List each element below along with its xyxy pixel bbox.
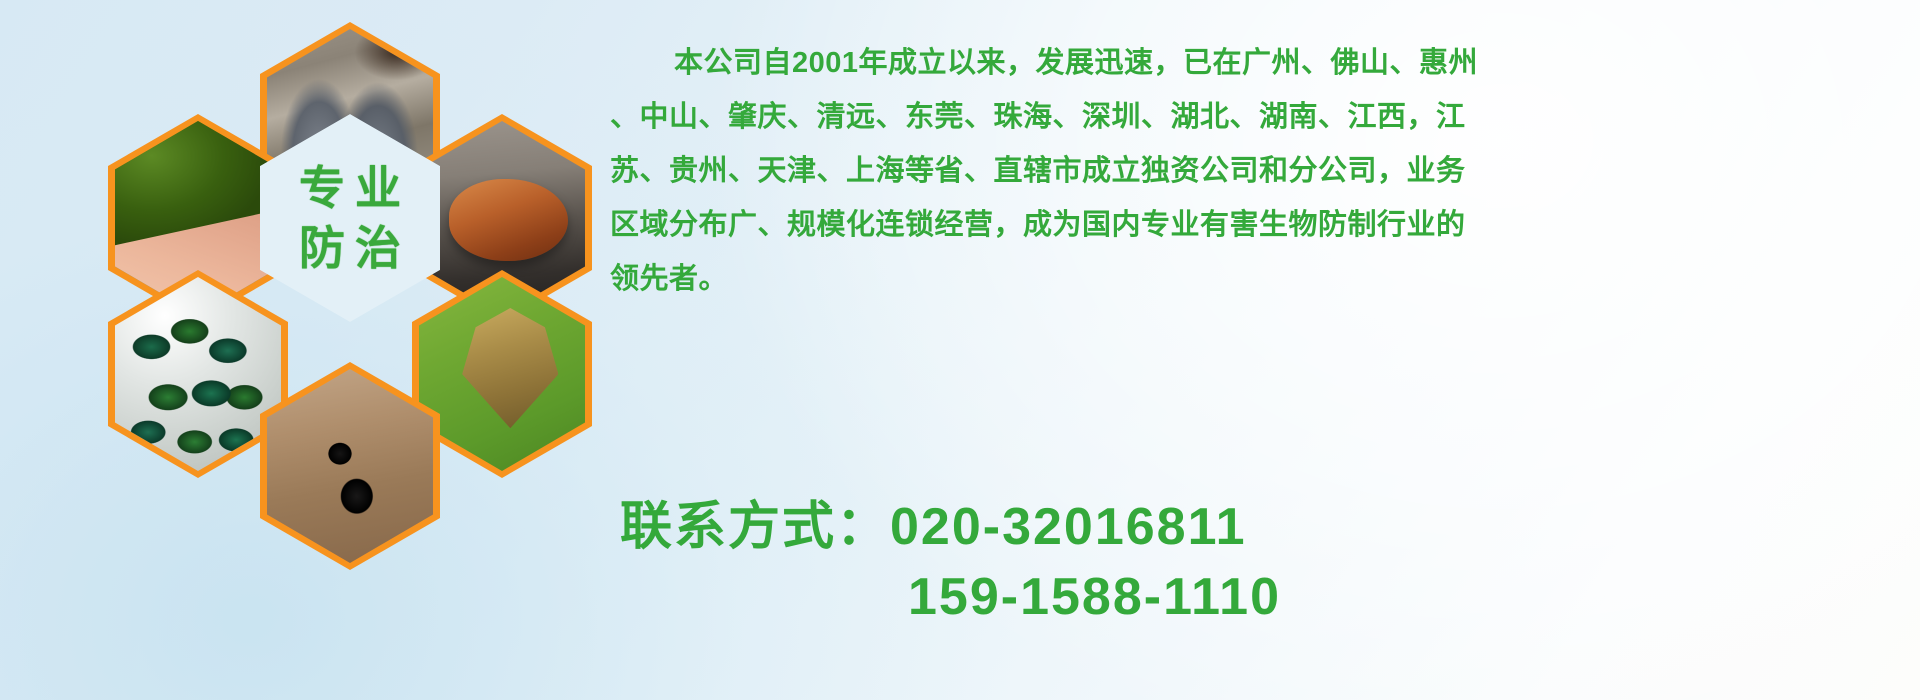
hex-inner: [419, 277, 585, 471]
hexagon-photo-cluster: 专业 防治: [90, 4, 590, 564]
stink-bug-photo-icon: [419, 277, 585, 471]
hex-badge-line1: 专业: [289, 165, 411, 211]
hex-badge-line2: 防治: [289, 225, 411, 271]
intro-line-1: 本公司自2001年成立以来，发展迅速，已在广州、佛山、惠州: [610, 36, 1880, 90]
hex-inner: [115, 277, 281, 471]
flies-photo-icon: [115, 277, 281, 471]
contact-phone-secondary[interactable]: 159-1588-1110: [620, 562, 1900, 632]
ant-photo-icon: [267, 369, 433, 563]
intro-line-5: 领先者。: [610, 252, 1880, 306]
hex-inner: [267, 369, 433, 563]
intro-line-4: 区域分布广、规模化连锁经营，成为国内专业有害生物防制行业的: [610, 198, 1880, 252]
contact-phone-primary[interactable]: 联系方式：020-32016811: [620, 492, 1900, 562]
contact-block: 联系方式：020-32016811 159-1588-1110: [620, 492, 1900, 632]
company-intro-paragraph: 本公司自2001年成立以来，发展迅速，已在广州、佛山、惠州 、中山、肇庆、清远、…: [610, 36, 1880, 306]
intro-line-2: 、中山、肇庆、清远、东莞、珠海、深圳、湖北、湖南、江西，江: [610, 90, 1880, 144]
promo-banner: 专业 防治 本公司自2001年成立以来，发展迅速，已在广州、佛山、惠州: [0, 0, 1920, 700]
intro-line-3: 苏、贵州、天津、上海等省、直辖市成立独资公司和分公司，业务: [610, 144, 1880, 198]
